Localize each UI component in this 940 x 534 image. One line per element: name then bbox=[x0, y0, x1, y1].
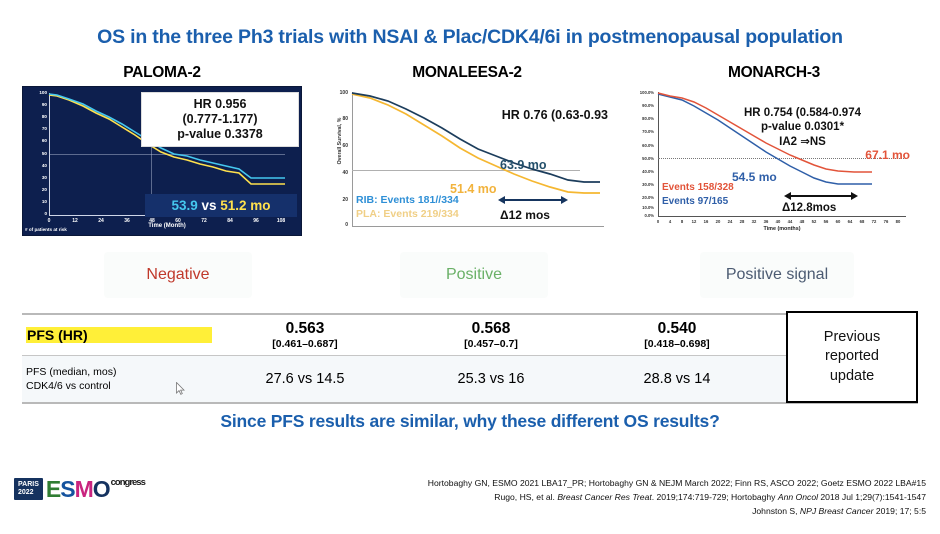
x-axis-label: Time (months) bbox=[658, 226, 906, 232]
x-tick: 32 bbox=[748, 219, 760, 224]
slide-root: OS in the three Ph3 trials with NSAI & P… bbox=[0, 0, 940, 534]
legend-item-rib: RIB: Events 181//334 bbox=[356, 194, 459, 206]
x-tick: 8 bbox=[676, 219, 688, 224]
delta-label: Δ12.8mos bbox=[782, 202, 836, 214]
x-tick: 28 bbox=[736, 219, 748, 224]
x-tick: 40 bbox=[772, 219, 784, 224]
chart-panel-monarch3: MONARCH-3 100.0% 90.0% 80.0% 70.0% 60.0%… bbox=[624, 64, 924, 236]
hr-callout-monaleesa2: HR 0.76 (0.63-0.93 bbox=[502, 108, 608, 122]
cell-paloma2-hr: 0.563 [0.461–0.687] bbox=[212, 315, 398, 355]
row-label-pfs-median: PFS (median, mos) CDK4/6 vs control bbox=[22, 356, 212, 402]
note-line3: update bbox=[830, 367, 874, 386]
x-tick: 20 bbox=[712, 219, 724, 224]
hr-value: 0.563 bbox=[286, 320, 325, 337]
x-tick: 44 bbox=[784, 219, 796, 224]
hr-callout-paloma2: HR 0.956 (0.777-1.177) p-value 0.3378 bbox=[141, 92, 299, 147]
hr-value: 0.540 bbox=[658, 320, 697, 337]
survival-plot-monarch3: 100.0% 90.0% 80.0% 70.0% 60.0% 50.0% 40.… bbox=[624, 86, 922, 236]
logo-letter-o: O bbox=[93, 476, 110, 503]
hr-value: HR 0.754 (0.584-0.974 bbox=[744, 106, 861, 120]
delta-arrow bbox=[498, 196, 568, 204]
hr-ci: [0.457–0.7] bbox=[464, 338, 518, 350]
ref3-part1: Johnston S, bbox=[752, 506, 800, 516]
closing-question: Since PFS results are similar, why these… bbox=[0, 411, 940, 432]
page-title: OS in the three Ph3 trials with NSAI & P… bbox=[0, 26, 940, 49]
verdict-paloma2: Negative bbox=[104, 252, 252, 298]
x-tick: 60 bbox=[832, 219, 844, 224]
median-value: 28.8 vs 14 bbox=[644, 371, 711, 387]
esmo-wordmark: ESMO congress bbox=[46, 476, 145, 503]
references-block: Hortobaghy GN, ESMO 2021 LBA17_PR; Horto… bbox=[246, 476, 926, 519]
median-callout-paloma2: 53.9 vs 51.2 mo bbox=[145, 194, 297, 217]
hr-ci: [0.461–0.687] bbox=[272, 338, 337, 350]
chart-panel-monaleesa2: MONALEESA-2 100 80 60 40 20 0 Overall Su… bbox=[322, 64, 612, 236]
paris-2022-badge: PARIS 2022 bbox=[14, 478, 43, 501]
hr-value: HR 0.956 bbox=[144, 97, 296, 112]
note-line2: reported bbox=[825, 347, 879, 366]
hr-callout-monarch3: HR 0.754 (0.584-0.974 p-value 0.0301* IA… bbox=[744, 106, 861, 149]
reference-line-3: Johnston S, NPJ Breast Cancer 2019; 17; … bbox=[246, 504, 926, 518]
chart-title-monarch3: MONARCH-3 bbox=[624, 64, 924, 82]
delta-arrow bbox=[784, 192, 858, 200]
survival-plot-monaleesa2: 100 80 60 40 20 0 Overall Survival, % HR… bbox=[322, 86, 610, 236]
legend-item-events-control: Events 97/165 bbox=[662, 196, 728, 207]
ref3-journal: NPJ Breast Cancer bbox=[800, 506, 874, 516]
cell-monarch3-hr: 0.540 [0.418–0.698] bbox=[584, 315, 770, 355]
logo-letter-s: S bbox=[60, 476, 74, 503]
pfs-comparison-table: PFS (HR) 0.563 [0.461–0.687] 0.568 [0.45… bbox=[22, 313, 918, 404]
hr-ci: [0.418–0.698] bbox=[644, 338, 709, 350]
ref2-part1: Rugo, HS, et al. bbox=[494, 492, 557, 502]
table-row: PFS (median, mos) CDK4/6 vs control 27.6… bbox=[22, 355, 918, 402]
survival-plot-paloma2: 100 90 80 70 60 50 40 30 20 10 0 0 12 24… bbox=[22, 86, 302, 236]
table-bottom-rule bbox=[22, 402, 918, 404]
x-tick: 76 bbox=[880, 219, 892, 224]
x-tick: 56 bbox=[820, 219, 832, 224]
legend-item-events-treatment: Events 158/328 bbox=[662, 182, 734, 193]
patients-at-risk-label: # of patients at risk bbox=[25, 227, 67, 232]
x-tick: 48 bbox=[796, 219, 808, 224]
median-value: 27.6 vs 14.5 bbox=[266, 371, 345, 387]
pfs-hr-label: PFS (HR) bbox=[26, 327, 212, 343]
ref2-part3: 2018 Jul 1;29(7):1541-1547 bbox=[818, 492, 926, 502]
mouse-cursor-icon bbox=[176, 382, 185, 395]
logo-letter-m: M bbox=[75, 476, 93, 503]
x-tick: 64 bbox=[844, 219, 856, 224]
previous-update-note: Previous reported update bbox=[786, 311, 918, 403]
logo-city: PARIS bbox=[18, 481, 39, 489]
x-axis-label: Time (Month) bbox=[49, 223, 285, 229]
reference-line-2: Rugo, HS, et al. Breast Cancer Res Treat… bbox=[246, 490, 926, 504]
median-control-label: 54.5 mo bbox=[732, 170, 777, 184]
verdict-monarch3: Positive signal bbox=[700, 252, 854, 298]
cell-monaleesa2-median: 25.3 vs 16 bbox=[398, 356, 584, 402]
x-tick: 68 bbox=[856, 219, 868, 224]
delta-label: Δ12 mos bbox=[500, 208, 550, 222]
median-control: 51.2 mo bbox=[220, 198, 270, 213]
ref2-part2: . 2019;174:719-729; Hortobaghy bbox=[652, 492, 778, 502]
hr-pvalue: p-value 0.0301* bbox=[744, 120, 861, 134]
hr-ci: (0.777-1.177) bbox=[144, 112, 296, 127]
verdict-monaleesa2: Positive bbox=[400, 252, 548, 298]
median-vs: vs bbox=[201, 198, 216, 213]
logo-letter-e: E bbox=[46, 476, 60, 503]
ref3-part2: 2019; 17; 5:5 bbox=[873, 506, 926, 516]
cell-monaleesa2-hr: 0.568 [0.457–0.7] bbox=[398, 315, 584, 355]
x-tick: 4 bbox=[664, 219, 676, 224]
hr-ia2-note: IA2 ⇒NS bbox=[744, 135, 861, 149]
hr-pvalue: p-value 0.3378 bbox=[144, 127, 296, 142]
ref2-journal1: Breast Cancer Res Treat bbox=[557, 492, 651, 502]
note-line1: Previous bbox=[824, 328, 880, 347]
logo-congress-text: congress bbox=[111, 477, 145, 488]
x-tick: 36 bbox=[760, 219, 772, 224]
x-tick: 80 bbox=[892, 219, 904, 224]
x-tick: 16 bbox=[700, 219, 712, 224]
reference-line-1: Hortobaghy GN, ESMO 2021 LBA17_PR; Horto… bbox=[246, 476, 926, 490]
chart-panel-paloma2: PALOMA-2 100 90 80 70 60 50 40 30 20 10 … bbox=[22, 64, 302, 236]
x-tick: 24 bbox=[724, 219, 736, 224]
x-tick: 0 bbox=[652, 219, 664, 224]
median-treatment-label: 63.9 mo bbox=[500, 158, 547, 172]
x-tick: 72 bbox=[868, 219, 880, 224]
table-row: PFS (HR) 0.563 [0.461–0.687] 0.568 [0.45… bbox=[22, 315, 918, 355]
chart-title-paloma2: PALOMA-2 bbox=[22, 64, 302, 82]
legend-item-pla: PLA: Events 219/334 bbox=[356, 208, 459, 220]
ref2-journal2: Ann Oncol bbox=[778, 492, 818, 502]
hr-value: 0.568 bbox=[472, 320, 511, 337]
median-treatment-label: 67.1 mo bbox=[865, 148, 910, 162]
x-tick: 12 bbox=[688, 219, 700, 224]
cell-monarch3-median: 28.8 vs 14 bbox=[584, 356, 770, 402]
esmo-congress-logo: PARIS 2022 ESMO congress bbox=[14, 474, 145, 504]
row-label-pfs-hr: PFS (HR) bbox=[22, 315, 212, 355]
median-value: 25.3 vs 16 bbox=[458, 371, 525, 387]
cell-paloma2-median: 27.6 vs 14.5 bbox=[212, 356, 398, 402]
row-label-line1: PFS (median, mos) bbox=[26, 365, 212, 379]
chart-title-monaleesa2: MONALEESA-2 bbox=[322, 64, 612, 82]
median-treatment: 53.9 bbox=[171, 198, 197, 213]
x-tick: 52 bbox=[808, 219, 820, 224]
logo-year: 2022 bbox=[18, 489, 39, 497]
